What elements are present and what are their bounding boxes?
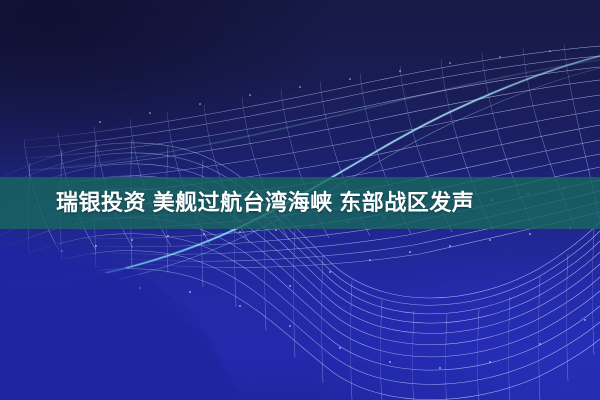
banner-image: 瑞银投资 美舰过航台湾海峡 东部战区发声 (0, 0, 600, 400)
headline-text: 瑞银投资 美舰过航台湾海峡 东部战区发声 (0, 192, 474, 214)
headline-band: 瑞银投资 美舰过航台湾海峡 东部战区发声 (0, 177, 600, 229)
